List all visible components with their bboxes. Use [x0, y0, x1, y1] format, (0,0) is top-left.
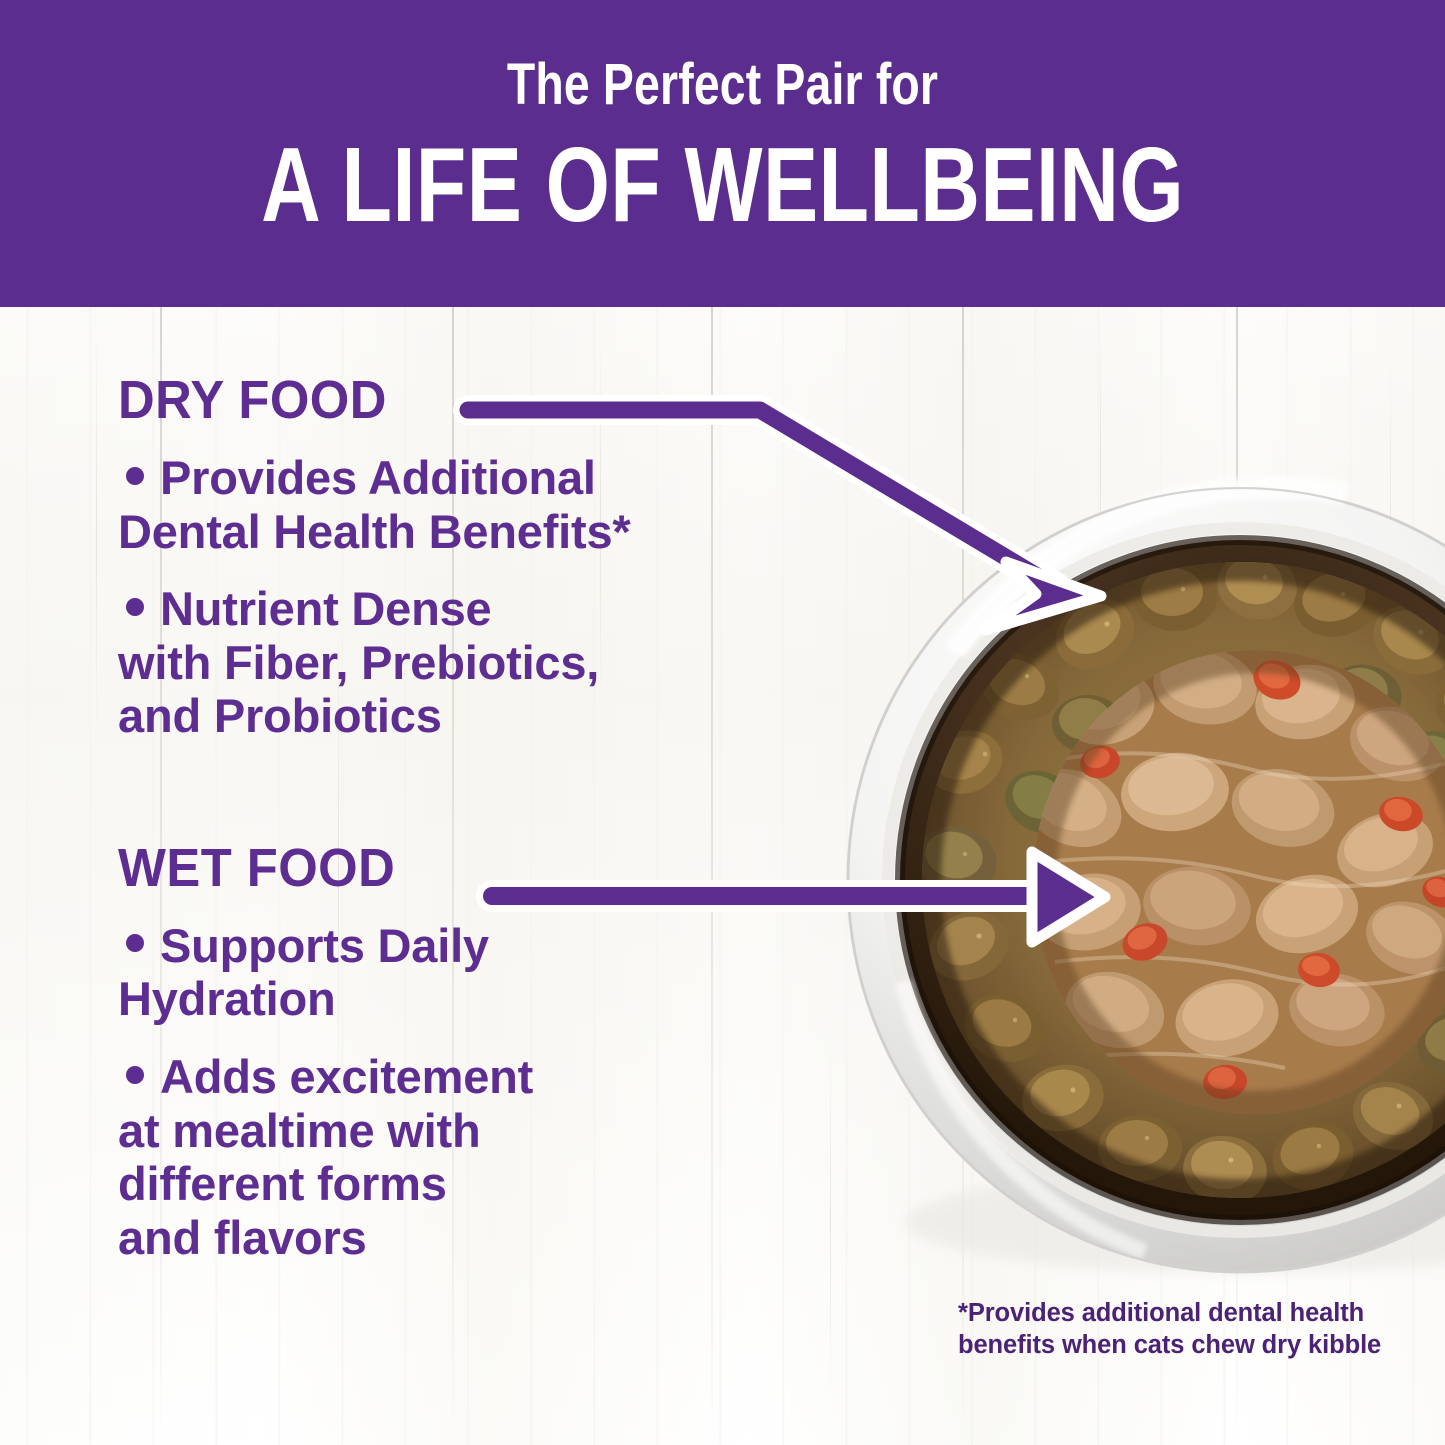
header-banner: The Perfect Pair for A LIFE OF WELLBEING: [0, 0, 1445, 307]
header-subtitle: The Perfect Pair for: [507, 56, 938, 114]
bullet-item: Supports Daily Hydration: [118, 919, 808, 1026]
header-title: A LIFE OF WELLBEING: [261, 132, 1184, 238]
bullet-line: and Probiotics: [118, 689, 442, 742]
wood-grain: [96, 320, 97, 740]
footnote-line: benefits when cats chew dry kibble: [958, 1330, 1388, 1362]
bullet-list-wet-food: Supports Daily Hydration Adds excitement…: [118, 919, 808, 1264]
bullet-dot-icon: [126, 467, 144, 485]
bullet-line: with Fiber, Prebiotics,: [118, 636, 599, 689]
section-spacer: [118, 767, 808, 841]
bullet-line: Dental Health Benefits*: [118, 505, 631, 558]
bullet-item: Adds excitement at mealtime with differe…: [118, 1050, 808, 1264]
bullet-item: Provides Additional Dental Health Benefi…: [118, 451, 808, 558]
bullet-line: and flavors: [118, 1211, 367, 1264]
infographic-canvas: The Perfect Pair for A LIFE OF WELLBEING: [0, 0, 1445, 1445]
wood-grain: [830, 1040, 831, 1400]
footnote: *Provides additional dental health benef…: [958, 1298, 1388, 1362]
footnote-line: *Provides additional dental health: [958, 1298, 1388, 1330]
bullet-dot-icon: [126, 1066, 144, 1084]
bullet-line: Hydration: [118, 972, 336, 1025]
bullet-dot-icon: [126, 934, 144, 952]
section-title-dry-food: DRY FOOD: [118, 373, 767, 427]
bullet-list-dry-food: Provides Additional Dental Health Benefi…: [118, 451, 808, 743]
bullet-line: different forms: [118, 1157, 447, 1210]
benefits-copy: DRY FOOD Provides Additional Dental Heal…: [118, 373, 808, 1288]
bullet-line: Adds excitement: [160, 1050, 533, 1103]
bullet-dot-icon: [126, 598, 144, 616]
bullet-line: Supports Daily: [160, 919, 489, 972]
bullet-line: at mealtime with: [118, 1104, 480, 1157]
bullet-line: Provides Additional: [160, 451, 596, 504]
bullet-item: Nutrient Dense with Fiber, Prebiotics, a…: [118, 582, 808, 743]
cat-food-bowl-photo: [845, 462, 1445, 1292]
section-title-wet-food: WET FOOD: [118, 841, 767, 895]
bullet-line: Nutrient Dense: [160, 582, 491, 635]
